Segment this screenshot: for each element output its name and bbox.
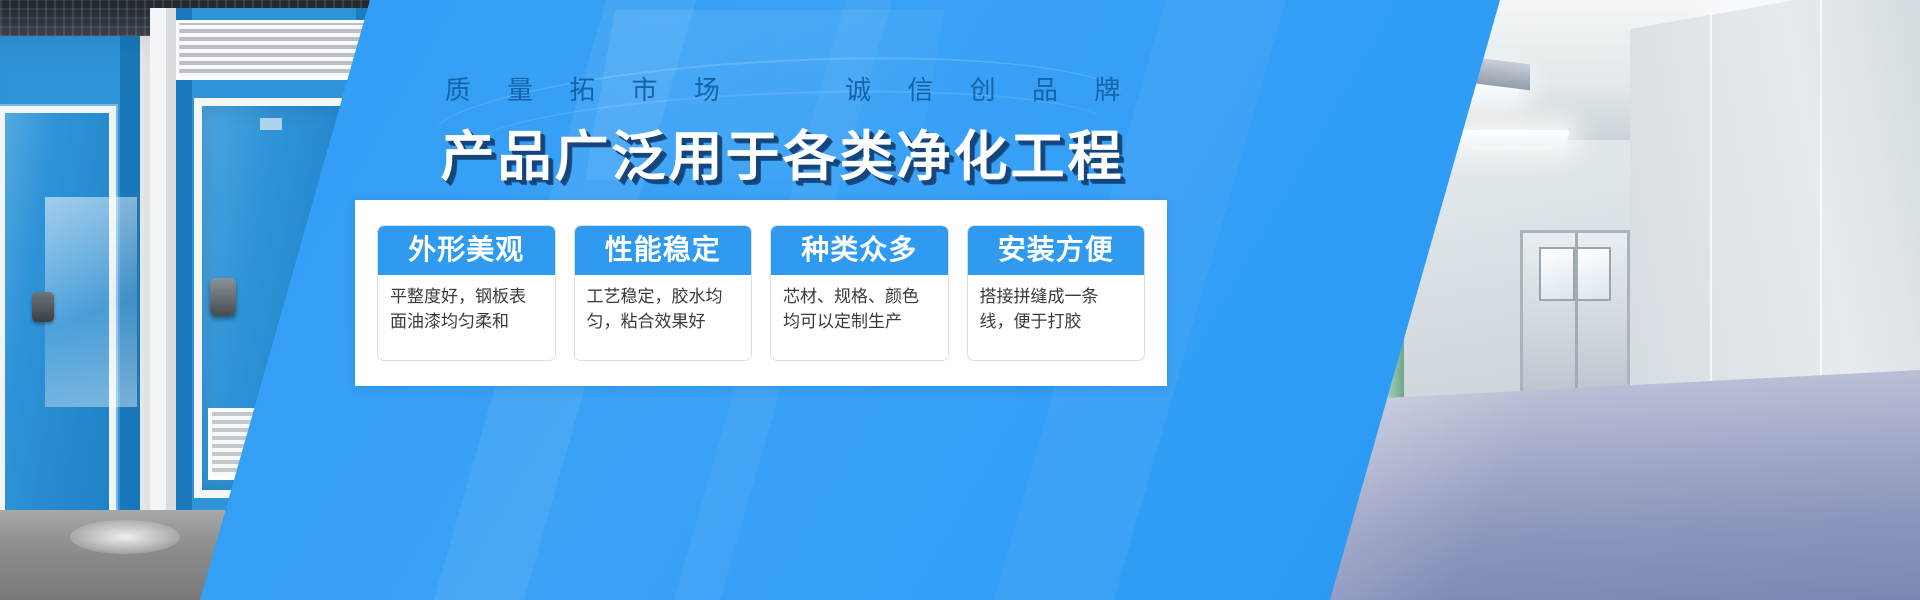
feature-card[interactable]: 性能稳定 工艺稳定，胶水均匀，粘合效果好 [574, 225, 753, 361]
floor-highlight [70, 520, 180, 554]
feature-card-description: 工艺稳定，胶水均匀，粘合效果好 [575, 275, 752, 360]
promo-banner: 质 量 拓 市 场 诚 信 创 品 牌 产品广泛用于各类净化工程 外形美观 平整… [0, 0, 1920, 600]
cabin-louver-vent-top [176, 20, 372, 80]
feature-card-description: 平整度好，钢板表面油漆均匀柔和 [378, 275, 555, 360]
cabin-door-glass [45, 197, 137, 407]
feature-card[interactable]: 外形美观 平整度好，钢板表面油漆均匀柔和 [377, 225, 556, 361]
feature-cards-panel: 外形美观 平整度好，钢板表面油漆均匀柔和 性能稳定 工艺稳定，胶水均匀，粘合效果… [355, 200, 1167, 386]
cabin-door-handle [210, 278, 236, 316]
door-window-right [1575, 247, 1611, 301]
feature-card-description: 芯材、规格、颜色均可以定制生产 [771, 275, 948, 360]
ceiling-light-3 [1458, 130, 1569, 146]
feature-card-description: 搭接拼缝成一条线，便于打胶 [968, 275, 1145, 360]
feature-card-title: 性能稳定 [575, 226, 752, 275]
cabin-door-lock [32, 292, 54, 322]
feature-card[interactable]: 安装方便 搭接拼缝成一条线，便于打胶 [967, 225, 1146, 361]
cabin-door-left [0, 106, 116, 526]
feature-card-title: 安装方便 [968, 226, 1145, 275]
corridor-double-door [1520, 230, 1630, 410]
door-window-left [1539, 247, 1575, 301]
feature-card-title: 外形美观 [378, 226, 555, 275]
cabin-name-plate [260, 118, 282, 130]
feature-card[interactable]: 种类众多 芯材、规格、颜色均可以定制生产 [770, 225, 949, 361]
feature-card-title: 种类众多 [771, 226, 948, 275]
